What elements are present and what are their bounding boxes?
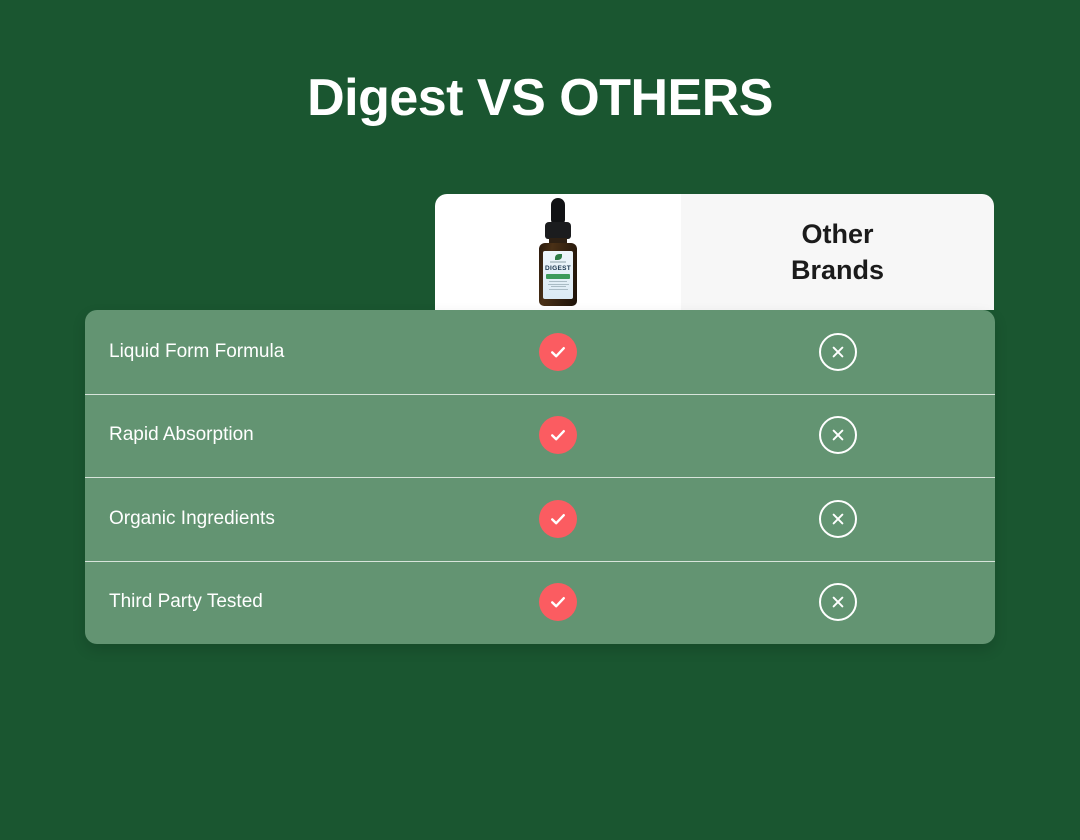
header-brand-cell: DIGEST [435, 194, 681, 310]
table-row: Liquid Form Formula [85, 310, 995, 394]
dropper-bulb-icon [551, 198, 565, 224]
label-fine-print [543, 281, 573, 290]
comparison-table: DIGEST Other Brands Liquid Form Formula [85, 194, 995, 644]
brand-value-cell [435, 561, 681, 645]
leaf-logo-icon [555, 254, 562, 260]
others-value-cell [681, 477, 994, 561]
other-brands-label-line2: Brands [791, 252, 884, 288]
brand-value-cell [435, 310, 681, 394]
others-value-cell [681, 561, 994, 645]
check-circle-filled-icon [539, 416, 577, 454]
x-circle-outline-icon [819, 583, 857, 621]
header-other-brands-cell: Other Brands [681, 194, 994, 310]
brand-name-placeholder [550, 261, 566, 263]
others-value-cell [681, 310, 994, 394]
check-circle-filled-icon [539, 500, 577, 538]
others-value-cell [681, 394, 994, 478]
page-title: Digest VS OTHERS [0, 66, 1080, 130]
check-circle-filled-icon [539, 583, 577, 621]
table-row: Rapid Absorption [85, 394, 995, 478]
feature-label: Third Party Tested [85, 561, 435, 645]
bottle-label: DIGEST [543, 251, 573, 299]
other-brands-label-line1: Other [791, 216, 884, 252]
x-circle-outline-icon [819, 416, 857, 454]
bottle-label-title: DIGEST [543, 265, 573, 272]
header-spacer-cell [85, 194, 435, 310]
feature-label: Rapid Absorption [85, 394, 435, 478]
x-circle-outline-icon [819, 500, 857, 538]
feature-label: Liquid Form Formula [85, 310, 435, 394]
feature-label: Organic Ingredients [85, 477, 435, 561]
table-body: Liquid Form Formula Rapid Absorption [85, 310, 995, 644]
brand-value-cell [435, 477, 681, 561]
check-circle-filled-icon [539, 333, 577, 371]
table-row: Organic Ingredients [85, 477, 995, 561]
brand-value-cell [435, 394, 681, 478]
label-accent-band [546, 274, 570, 279]
product-bottle-image: DIGEST [535, 198, 581, 306]
table-row: Third Party Tested [85, 561, 995, 645]
dropper-cap-icon [545, 222, 571, 239]
table-header-row: DIGEST Other Brands [85, 194, 995, 310]
x-circle-outline-icon [819, 333, 857, 371]
